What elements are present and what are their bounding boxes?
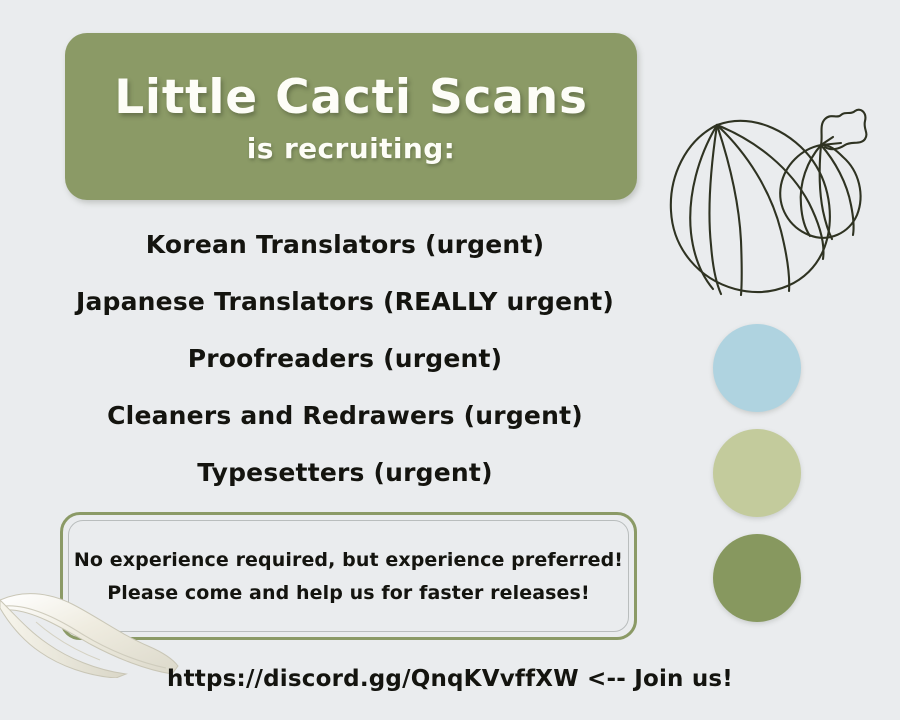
role-item: Typesetters (urgent) [197,444,492,501]
discord-invite-link[interactable]: https://discord.gg/QnqKVvffXW <-- Join u… [0,666,900,692]
header-banner: Little Cacti Scans is recruiting: [65,33,637,200]
color-swatch-pale-sage [713,429,801,517]
color-swatch-light-blue [713,324,801,412]
color-swatch-olive-green [713,534,801,622]
role-item: Proofreaders (urgent) [188,330,503,387]
page-title: Little Cacti Scans [114,74,588,123]
recruitment-poster: Little Cacti Scans is recruiting: [0,0,900,720]
role-item: Korean Translators (urgent) [146,216,544,273]
ribbon-decoration-icon [0,560,186,678]
roles-list: Korean Translators (urgent) Japanese Tra… [40,216,650,501]
cactus-icon [655,45,875,300]
role-item: Japanese Translators (REALLY urgent) [76,273,614,330]
role-item: Cleaners and Redrawers (urgent) [107,387,583,444]
page-subtitle: is recruiting: [247,132,456,165]
